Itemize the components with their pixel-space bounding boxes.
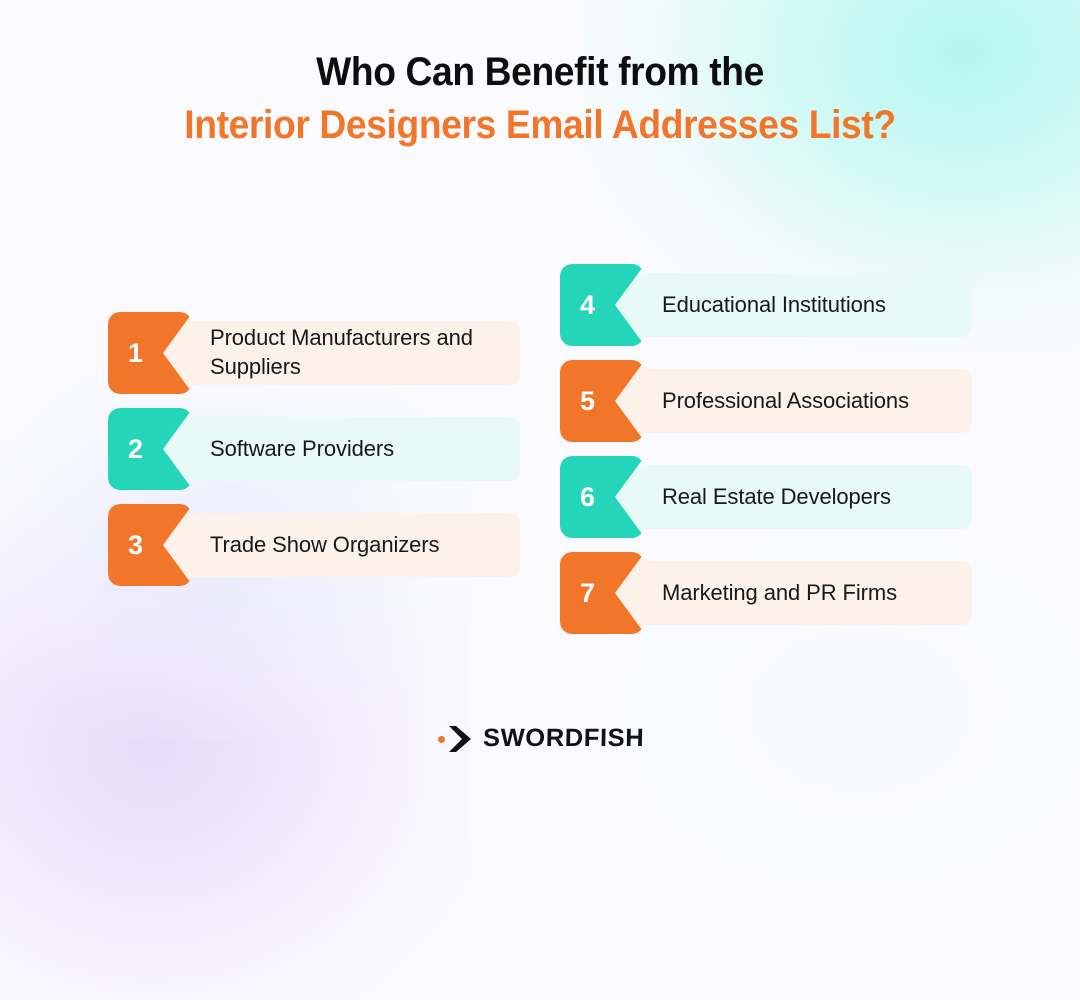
infographic-page: Who Can Benefit from the Interior Design… [0, 0, 1080, 800]
benefit-item-label: Professional Associations [662, 387, 909, 416]
benefit-item-number: 6 [580, 484, 595, 511]
benefit-item[interactable]: 2Software Providers [108, 408, 520, 490]
badge-notch-icon [163, 504, 193, 586]
benefit-item-number: 5 [580, 388, 595, 415]
benefit-item-number: 1 [128, 340, 143, 367]
badge-notch-icon [615, 264, 645, 346]
benefit-item-number: 7 [580, 580, 595, 607]
benefit-item-number-badge: 4 [560, 264, 644, 346]
benefit-item[interactable]: 5Professional Associations [560, 360, 972, 442]
benefit-item[interactable]: 6Real Estate Developers [560, 456, 972, 538]
benefit-item-label: Product Manufacturers and Suppliers [210, 324, 510, 381]
benefit-item-label: Real Estate Developers [662, 483, 891, 512]
title-line-accent: Interior Designers Email Addresses List? [38, 99, 1042, 152]
benefit-item-number-badge: 5 [560, 360, 644, 442]
benefit-item[interactable]: 7Marketing and PR Firms [560, 552, 972, 634]
badge-notch-icon [163, 408, 193, 490]
benefit-item-number: 4 [580, 292, 595, 319]
benefit-item-label: Marketing and PR Firms [662, 579, 897, 608]
benefit-item-number: 2 [128, 436, 143, 463]
badge-notch-icon [615, 456, 645, 538]
badge-notch-icon [163, 312, 193, 394]
benefit-item-label: Trade Show Organizers [210, 531, 439, 560]
badge-notch-icon [615, 360, 645, 442]
benefit-item-number-badge: 2 [108, 408, 192, 490]
dot-icon [438, 736, 445, 743]
benefit-item-number-badge: 7 [560, 552, 644, 634]
benefit-item-number: 3 [128, 532, 143, 559]
benefit-item-label: Software Providers [210, 435, 394, 464]
benefit-item-number-badge: 1 [108, 312, 192, 394]
benefit-item[interactable]: 1Product Manufacturers and Suppliers [108, 312, 520, 394]
benefit-item[interactable]: 3Trade Show Organizers [108, 504, 520, 586]
footer-logo: SWORDFISH [0, 724, 1080, 753]
title-line-primary: Who Can Benefit from the [38, 46, 1042, 99]
badge-notch-icon [615, 552, 645, 634]
benefit-list-left-column: 1Product Manufacturers and Suppliers2Sof… [108, 312, 520, 586]
benefit-item-label: Educational Institutions [662, 291, 886, 320]
swordfish-logo-mark [438, 726, 472, 752]
benefit-item-number-badge: 3 [108, 504, 192, 586]
benefit-item[interactable]: 4Educational Institutions [560, 264, 972, 346]
page-title: Who Can Benefit from the Interior Design… [0, 46, 1080, 152]
chevron-right-icon [447, 726, 472, 752]
benefit-item-number-badge: 6 [560, 456, 644, 538]
benefit-list-right-column: 4Educational Institutions5Professional A… [560, 264, 972, 634]
brand-name: SWORDFISH [483, 724, 645, 753]
